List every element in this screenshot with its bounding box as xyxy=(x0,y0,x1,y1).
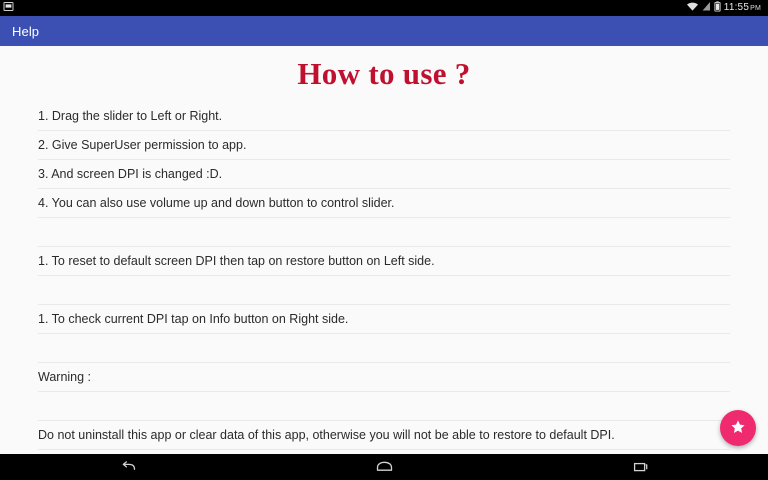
battery-icon xyxy=(714,0,721,17)
help-row: 4. You can also use volume up and down b… xyxy=(38,189,730,218)
android-screen: 11:55PM Help How to use ? 1. Drag the sl… xyxy=(0,0,768,480)
favorite-fab-button[interactable] xyxy=(720,410,756,446)
content-area: How to use ? 1. Drag the slider to Left … xyxy=(0,46,768,454)
action-bar: Help xyxy=(0,16,768,46)
navigation-bar xyxy=(0,454,768,480)
help-row: 1. Drag the slider to Left or Right. xyxy=(38,102,730,131)
status-bar-clock: 11:55PM xyxy=(724,2,761,14)
status-bar-system-icons: 11:55PM xyxy=(686,0,764,17)
action-bar-title: Help xyxy=(12,24,39,39)
status-bar-notifications xyxy=(3,0,14,17)
clock-meridiem: PM xyxy=(750,5,761,12)
wifi-icon xyxy=(686,0,699,17)
help-row-text: 1. To check current DPI tap on Info butt… xyxy=(38,311,348,327)
help-row-text: Do not uninstall this app or clear data … xyxy=(38,427,615,443)
help-row-spacer xyxy=(38,276,730,305)
help-row: 1. To reset to default screen DPI then t… xyxy=(38,247,730,276)
status-bar: 11:55PM xyxy=(0,0,768,16)
help-row-text: 1. Drag the slider to Left or Right. xyxy=(38,108,222,124)
page-title: How to use ? xyxy=(0,46,768,92)
help-row-spacer xyxy=(38,392,730,421)
home-icon[interactable] xyxy=(354,454,414,480)
help-row: 1. To check current DPI tap on Info butt… xyxy=(38,305,730,334)
help-row: Do not uninstall this app or clear data … xyxy=(38,421,730,450)
signal-bars-icon xyxy=(702,0,711,17)
help-row-text: Warning : xyxy=(38,369,91,385)
clock-time: 11:55 xyxy=(724,2,749,13)
help-list: 1. Drag the slider to Left or Right.2. G… xyxy=(0,102,768,450)
help-row-spacer xyxy=(38,334,730,363)
screenshot-icon xyxy=(3,0,14,17)
help-row-text: 4. You can also use volume up and down b… xyxy=(38,195,395,211)
help-row: 2. Give SuperUser permission to app. xyxy=(38,131,730,160)
help-row: Warning : xyxy=(38,363,730,392)
help-row-text: 3. And screen DPI is changed :D. xyxy=(38,166,222,182)
help-row: 3. And screen DPI is changed :D. xyxy=(38,160,730,189)
help-row-spacer xyxy=(38,218,730,247)
help-row-text: 2. Give SuperUser permission to app. xyxy=(38,137,246,153)
recents-icon[interactable] xyxy=(610,454,670,480)
help-row-text: 1. To reset to default screen DPI then t… xyxy=(38,253,435,269)
star-icon xyxy=(730,419,746,438)
back-icon[interactable] xyxy=(98,454,158,480)
